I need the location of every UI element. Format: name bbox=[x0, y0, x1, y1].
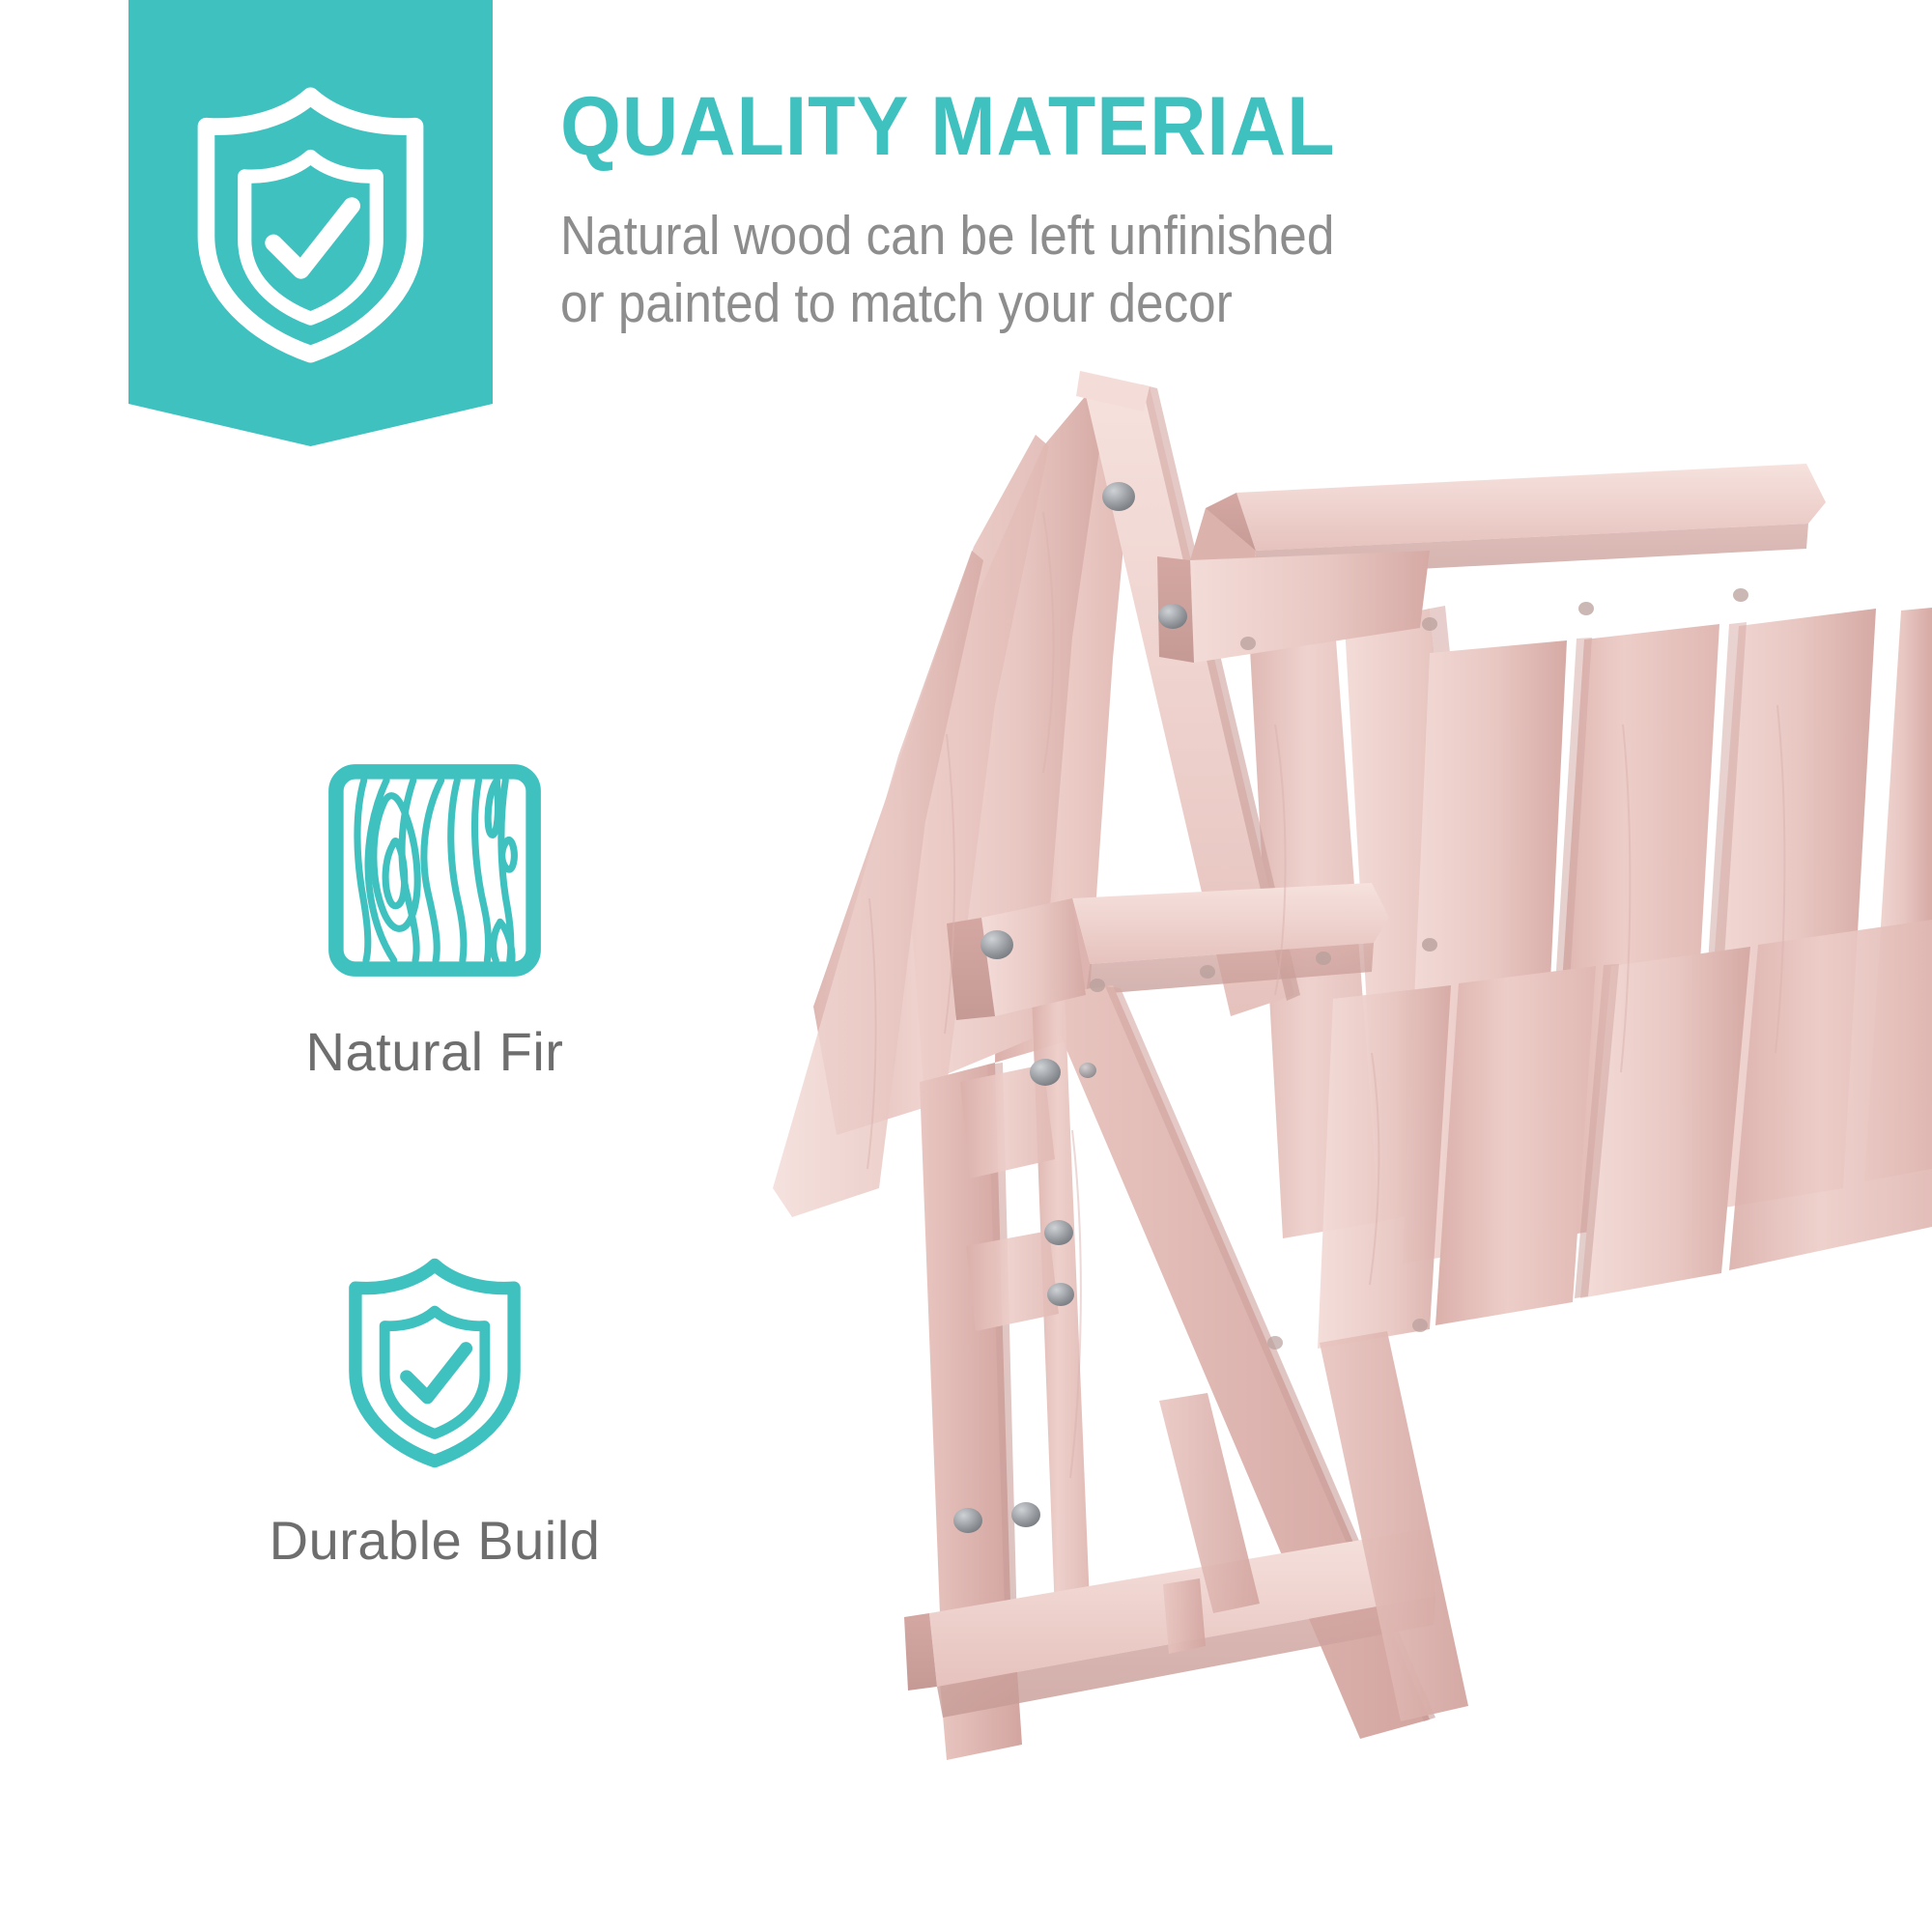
marketing-canvas: QUALITY MATERIAL Natural wood can be lef… bbox=[0, 0, 1932, 1932]
shield-check-icon bbox=[330, 1256, 539, 1470]
page-subtitle: Natural wood can be left unfinished or p… bbox=[560, 203, 1534, 337]
shield-check-icon bbox=[173, 85, 448, 365]
product-image bbox=[753, 319, 1932, 1932]
subtitle-line-1: Natural wood can be left unfinished bbox=[560, 203, 1534, 270]
quality-banner bbox=[128, 0, 493, 446]
wood-grain-icon bbox=[327, 763, 542, 978]
feature-label: Durable Build bbox=[145, 1509, 724, 1572]
feature-durable-build: Durable Build bbox=[145, 1256, 724, 1572]
feature-label: Natural Fir bbox=[145, 1020, 724, 1083]
feature-natural-fir: Natural Fir bbox=[145, 763, 724, 1083]
page-title: QUALITY MATERIAL bbox=[560, 85, 1759, 168]
